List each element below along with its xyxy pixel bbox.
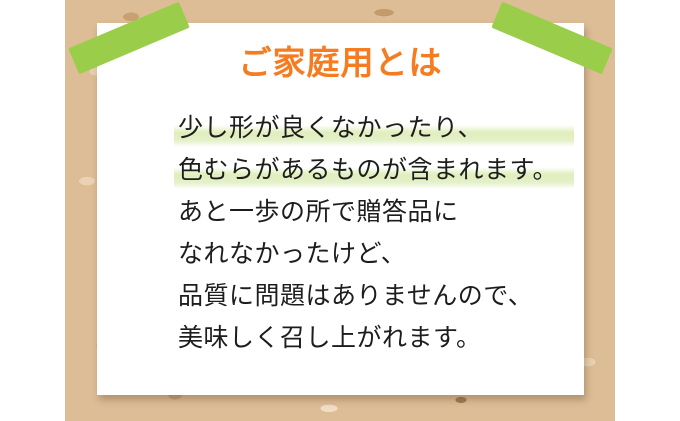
body-text-block: 少し形が良くなかったり、 色むらがあるものが含まれます。 あと一歩の所で贈答品に… [178,108,568,360]
promo-banner: ご家庭用とは 少し形が良くなかったり、 色むらがあるものが含まれます。 あと一歩… [0,0,680,421]
body-line-5-text: 品質に問題はありませんので、 [178,283,533,310]
body-line-1-text: 少し形が良くなかったり、 [178,115,483,142]
page-title: ご家庭用とは [97,44,584,84]
body-line-3: あと一歩の所で贈答品に [178,192,568,234]
body-line-6: 美味しく召し上がれます。 [178,318,568,360]
body-line-4-text: なれなかったけど、 [178,241,406,268]
body-line-2-text: 色むらがあるものが含まれます。 [178,157,558,184]
body-line-1: 少し形が良くなかったり、 [178,108,568,150]
body-line-6-text: 美味しく召し上がれます。 [178,325,482,352]
body-line-5: 品質に問題はありませんので、 [178,276,568,318]
body-line-4: なれなかったけど、 [178,234,568,276]
body-line-2: 色むらがあるものが含まれます。 [178,150,568,192]
body-line-3-text: あと一歩の所で贈答品に [178,199,459,226]
